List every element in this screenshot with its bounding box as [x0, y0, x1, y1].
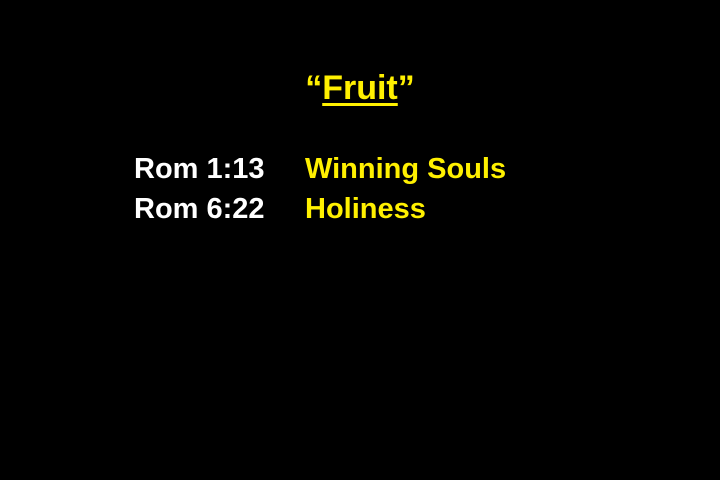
scripture-topic: Holiness — [305, 189, 426, 229]
scripture-reference: Rom 6:22 — [134, 189, 305, 229]
scripture-topic: Winning Souls — [305, 149, 506, 189]
title-keyword: Fruit — [322, 69, 398, 107]
presentation-slide: “Fruit” Rom 1:13 Winning Souls Rom 6:22 … — [0, 0, 720, 480]
slide-title: “Fruit” — [0, 70, 720, 106]
close-quote-mark: ” — [398, 69, 415, 107]
scripture-reference: Rom 1:13 — [134, 149, 305, 189]
list-item: Rom 1:13 Winning Souls — [134, 149, 506, 189]
scripture-entry-list: Rom 1:13 Winning Souls Rom 6:22 Holiness — [134, 149, 506, 229]
open-quote-mark: “ — [305, 69, 322, 107]
list-item: Rom 6:22 Holiness — [134, 189, 506, 229]
